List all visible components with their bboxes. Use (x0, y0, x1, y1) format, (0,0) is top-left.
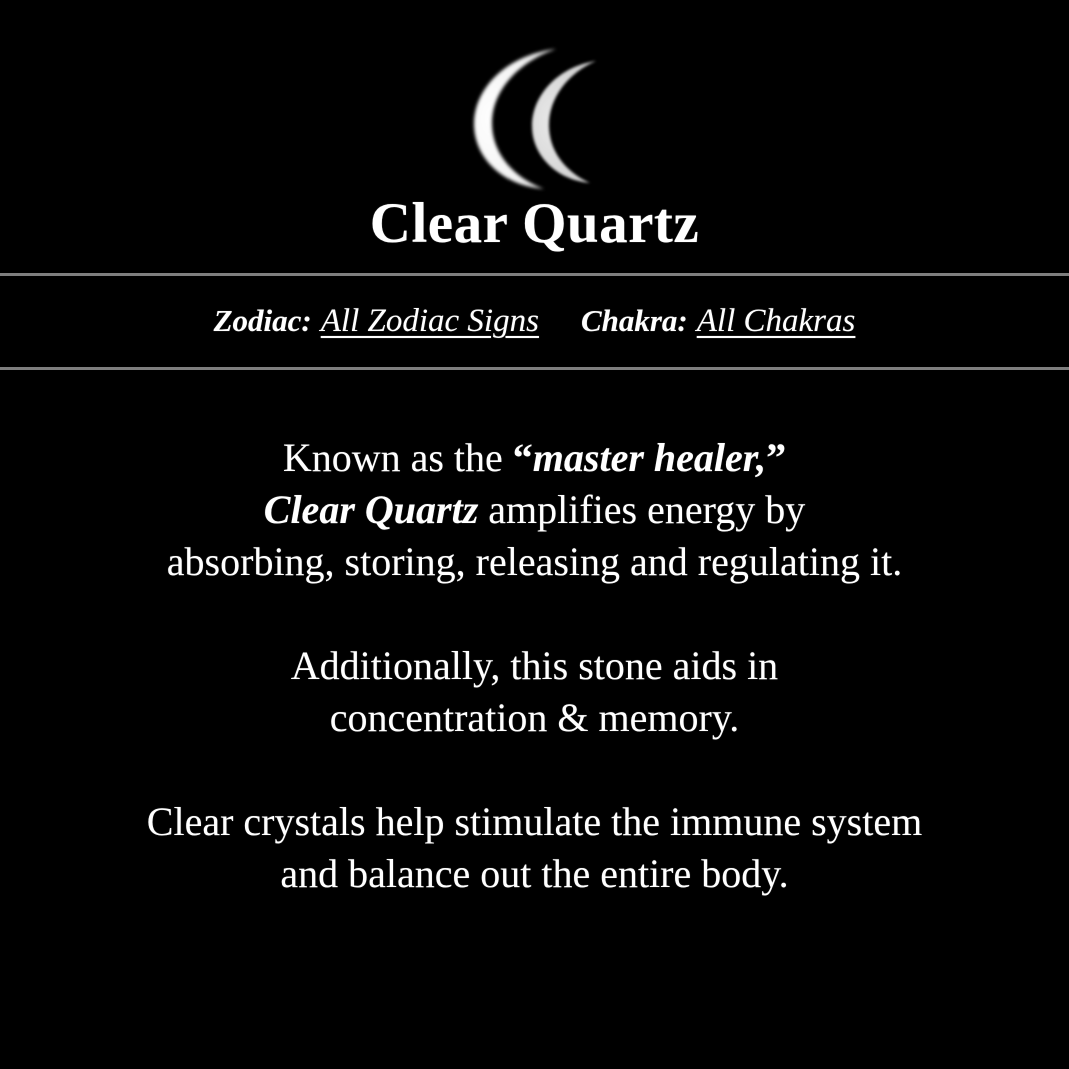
chakra-value: All Chakras (697, 303, 856, 340)
description-body: Known as the “master healer,”Clear Quart… (0, 370, 1069, 1069)
text-run: absorbing, storing, releasing and regula… (167, 539, 902, 584)
double-crescent-moon-icon (460, 44, 610, 192)
text-run: amplifies energy by (478, 487, 805, 532)
paragraph-concentration: Additionally, this stone aids inconcentr… (291, 640, 778, 744)
text-run: master healer (533, 435, 756, 480)
text-run: Known as the (283, 435, 513, 480)
text-run: ” (766, 435, 786, 480)
text-run: and balance out the entire body. (280, 851, 788, 896)
crystal-info-card: Clear Quartz Zodiac: All Zodiac Signs Ch… (0, 0, 1069, 1069)
text-run: , (756, 435, 766, 480)
paragraph-immune-system: Clear crystals help stimulate the immune… (147, 796, 922, 900)
logo-container (0, 0, 1069, 195)
zodiac-value: All Zodiac Signs (321, 303, 539, 340)
attributes-row: Zodiac: All Zodiac Signs Chakra: All Cha… (214, 303, 856, 340)
text-run: “ (513, 435, 533, 480)
zodiac-label: Zodiac: (214, 303, 312, 339)
text-run: Clear crystals help stimulate the immune… (147, 799, 922, 844)
text-run: concentration & memory. (330, 695, 740, 740)
page-title: Clear Quartz (370, 195, 699, 256)
paragraph-master-healer: Known as the “master healer,”Clear Quart… (167, 432, 902, 588)
chakra-label: Chakra: (581, 303, 688, 339)
text-run: Additionally, this stone aids in (291, 643, 778, 688)
text-run: Clear Quartz (264, 487, 479, 532)
attributes-band: Zodiac: All Zodiac Signs Chakra: All Cha… (0, 276, 1069, 367)
